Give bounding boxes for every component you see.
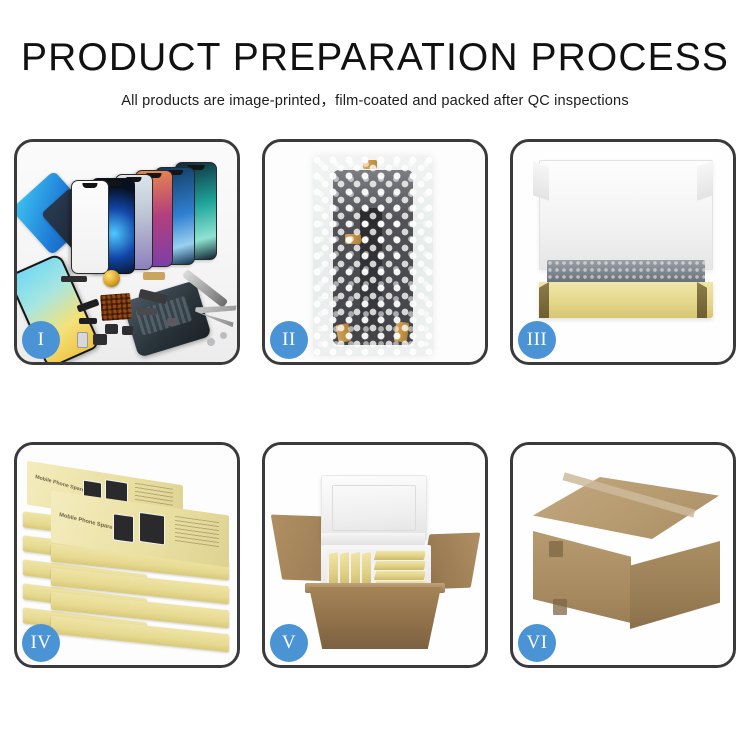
flex-cable-part [137, 308, 157, 315]
yellow-box-item [329, 552, 338, 587]
page-subtitle: All products are image-printed，film-coat… [0, 89, 750, 110]
step-panel-4[interactable]: Mobile Phone Spare Parts Mobile Phone Sp… [14, 442, 240, 668]
yellow-box-item [340, 552, 349, 587]
step-badge-5: V [270, 624, 308, 662]
screw-part [220, 332, 227, 339]
kraft-box-tray [539, 282, 713, 318]
yellow-box-item [362, 552, 371, 587]
carton-handle-tab [553, 599, 567, 615]
small-ic-part [122, 326, 133, 335]
camera-module-part [105, 324, 118, 334]
logic-board-chip [100, 293, 132, 321]
box-label-spec-lines [175, 516, 219, 548]
bubble-texture-highlight [313, 156, 433, 356]
step-badge-2: II [270, 321, 308, 359]
process-steps-grid: I II III [14, 139, 736, 668]
phone-glass-protector [71, 180, 109, 274]
notch-icon [82, 183, 97, 188]
lid-flap-left [533, 161, 549, 200]
step-panel-3[interactable]: III [510, 139, 736, 365]
kraft-tray-left-edge [539, 282, 549, 318]
step-panel-2[interactable]: II [262, 139, 488, 365]
shipping-carton-body [309, 587, 441, 649]
vibrator-part [93, 334, 107, 345]
gold-component-icon [103, 270, 120, 287]
white-box-lid [539, 160, 713, 270]
box-label-phone-image [113, 513, 134, 543]
yellow-box-item [374, 571, 425, 580]
step-panel-6[interactable]: VI [510, 442, 736, 668]
speaker-mesh-part [61, 276, 87, 282]
step-badge-4: IV [22, 624, 60, 662]
carton-handle-tab [549, 541, 563, 557]
screw-part [207, 338, 215, 346]
foam-cooler-contents [327, 549, 425, 587]
step-badge-3: III [518, 321, 556, 359]
yellow-box-item [351, 552, 360, 587]
screw-part [167, 318, 177, 326]
lid-flap-right [697, 161, 713, 200]
yellow-box-item [374, 561, 425, 570]
gold-flex-part [143, 272, 165, 280]
step-badge-6: VI [518, 624, 556, 662]
page-header: PRODUCT PREPARATION PROCESS All products… [0, 0, 750, 110]
phone-screen-fan [83, 162, 233, 278]
bubble-wrap-bag [313, 156, 433, 356]
kraft-tray-right-edge [697, 282, 707, 318]
step-badge-1: I [22, 321, 60, 359]
page-title: PRODUCT PREPARATION PROCESS [0, 38, 750, 79]
flex-cable-part [79, 318, 97, 324]
yellow-box-item [374, 551, 425, 560]
sim-tray-part [77, 332, 88, 348]
box-label-phone-image [139, 512, 165, 546]
foam-cooler-lid [321, 475, 427, 541]
step-panel-5[interactable]: V [262, 442, 488, 668]
box-stack: Mobile Phone Spare Parts Mobile Phone Sp… [23, 467, 237, 657]
step-panel-1[interactable]: I [14, 139, 240, 365]
